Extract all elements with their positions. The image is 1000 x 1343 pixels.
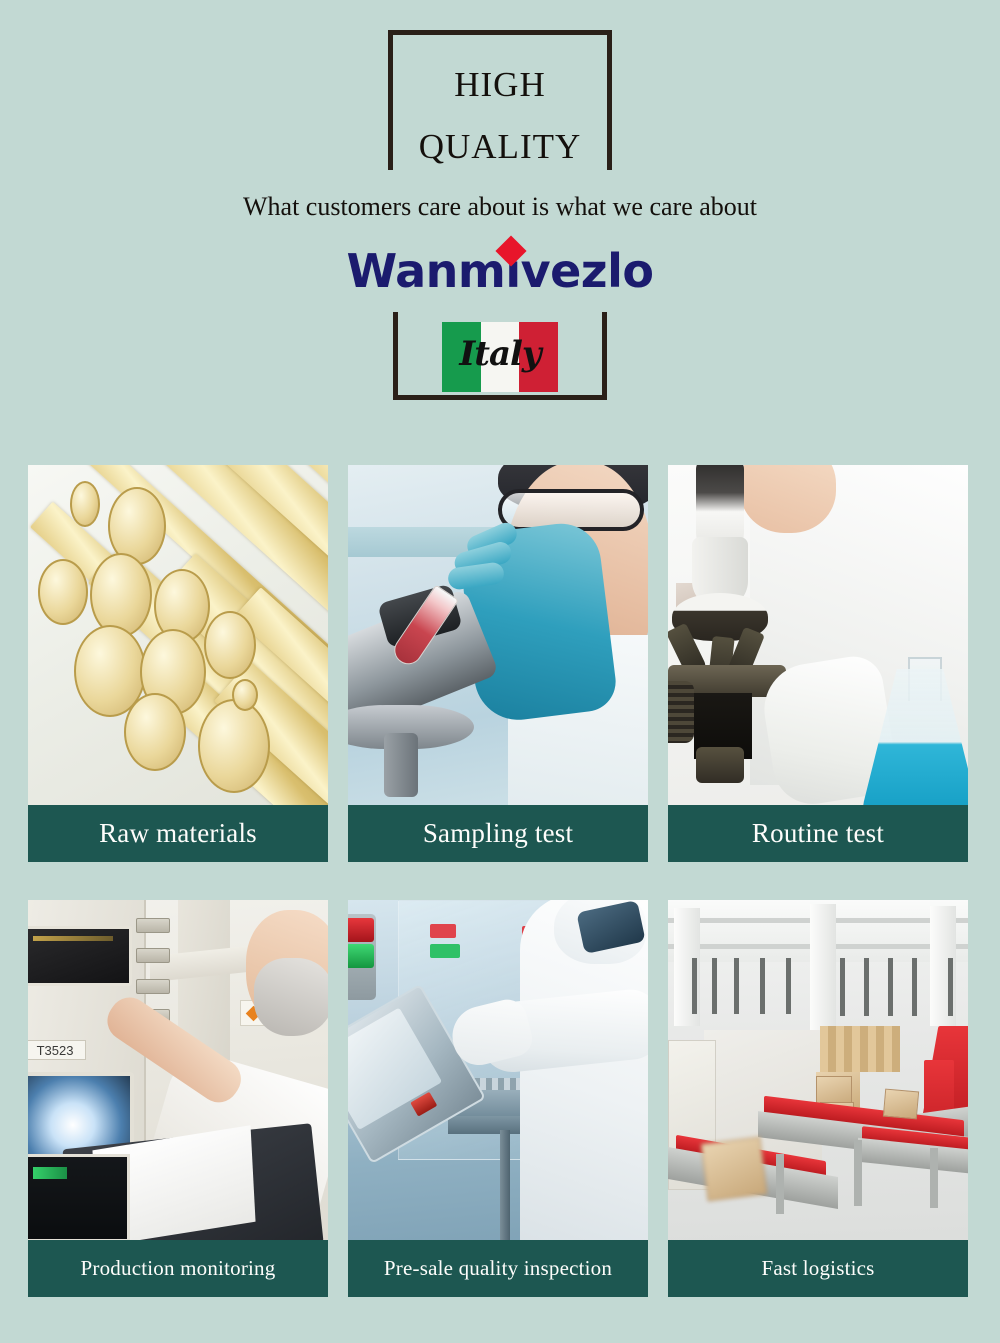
- process-card-grid: Raw materials Sampling test: [28, 465, 972, 1297]
- card-label: Production monitoring: [28, 1240, 328, 1297]
- card-label: Pre-sale quality inspection: [348, 1240, 648, 1297]
- card-presale-quality-inspection[interactable]: Pre-sale quality inspection: [348, 900, 648, 1297]
- card-label: Routine test: [668, 805, 968, 862]
- page-title-line-1: HIGH: [393, 65, 607, 105]
- country-badge-frame: Italy: [393, 312, 607, 400]
- brand-logo: Wanmivezlo: [0, 244, 1000, 304]
- warehouse-conveyor-photo: [668, 900, 968, 1240]
- microscope-scientist-photo: [668, 465, 968, 805]
- cleanroom-inspection-photo: [348, 900, 648, 1240]
- tagline: What customers care about is what we car…: [0, 192, 1000, 222]
- header: HIGH QUALITY What customers care about i…: [0, 0, 1000, 400]
- card-raw-materials[interactable]: Raw materials: [28, 465, 328, 862]
- card-fast-logistics[interactable]: Fast logistics: [668, 900, 968, 1297]
- equipment-tag: T3523: [28, 1040, 86, 1060]
- lab-technician-test-tube-photo: [348, 465, 648, 805]
- card-sampling-test[interactable]: Sampling test: [348, 465, 648, 862]
- card-routine-test[interactable]: Routine test: [668, 465, 968, 862]
- page-title-line-2: QUALITY: [393, 127, 607, 167]
- card-label: Sampling test: [348, 805, 648, 862]
- control-panel-operator-photo: T3523: [28, 900, 328, 1240]
- card-label: Raw materials: [28, 805, 328, 862]
- title-frame: HIGH QUALITY: [388, 30, 612, 170]
- card-production-monitoring[interactable]: T3523 Production monitoring: [28, 900, 328, 1297]
- brand-name: Wanmivezlo: [347, 244, 654, 298]
- country-label: Italy: [459, 334, 540, 374]
- brass-rods-photo: [28, 465, 328, 805]
- card-label: Fast logistics: [668, 1240, 968, 1297]
